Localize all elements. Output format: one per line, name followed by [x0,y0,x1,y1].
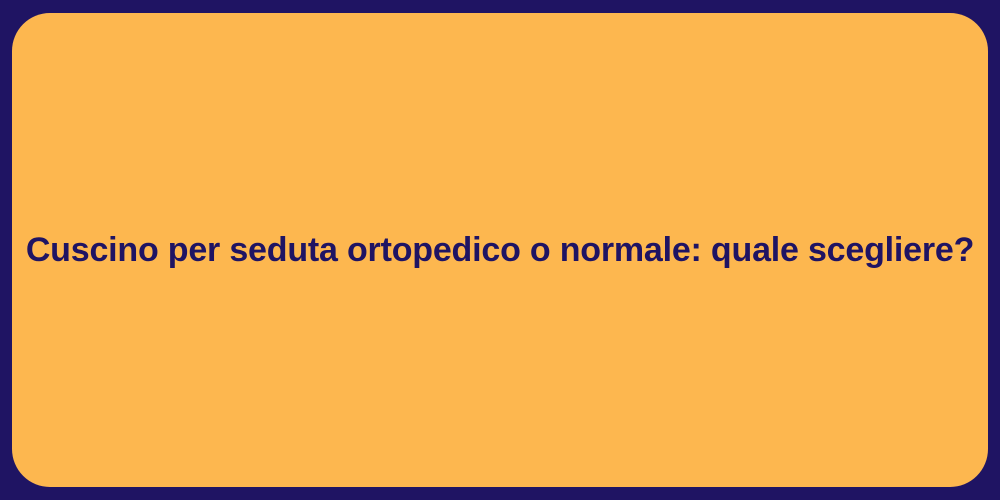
banner-panel: Cuscino per seduta ortopedico o normale:… [12,13,988,487]
banner-title: Cuscino per seduta ortopedico o normale:… [26,229,974,272]
banner-frame: Cuscino per seduta ortopedico o normale:… [0,0,1000,500]
